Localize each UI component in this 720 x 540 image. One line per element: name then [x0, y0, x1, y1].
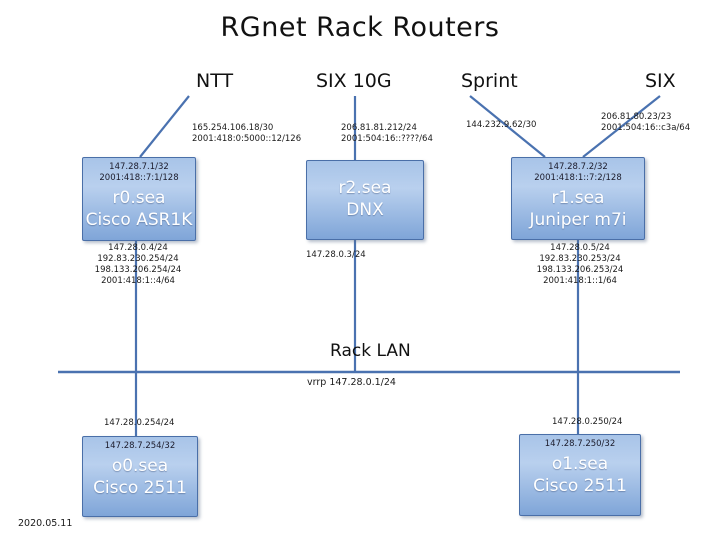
uplink-label-six10g: SIX 10G — [316, 70, 392, 92]
uplink-ip-line: 144.232.9.62/30 — [466, 120, 536, 131]
router-hostname: r2.sea — [307, 177, 423, 199]
uplink-ip-line: 2001:504:16::????/64 — [341, 134, 433, 145]
router-r2-lan-ips: 147.28.0.3/24 — [306, 250, 366, 261]
router-loopback-v4: 147.28.7.254/32 — [83, 441, 197, 452]
link-ntt-r0 — [140, 96, 189, 157]
router-hostname: o0.sea — [83, 455, 197, 477]
lan-ip-line: 2001:418:1::1/64 — [518, 276, 642, 287]
router-model: Cisco 2511 — [83, 477, 197, 499]
router-loopback-v4: 147.28.7.250/32 — [520, 439, 640, 450]
lan-ip-line: 198.133.206.254/24 — [76, 265, 200, 276]
uplink-ips-six10g: 206.81.81.212/24 2001:504:16::????/64 — [341, 123, 433, 145]
router-r0-sea[interactable]: 147.28.7.1/32 2001:418::7:1/128 r0.sea C… — [82, 157, 196, 241]
date-stamp: 2020.05.11 — [18, 518, 72, 529]
router-r2-sea[interactable]: r2.sea DNX — [306, 160, 424, 240]
router-loopback-v6: 2001:418::7:1/128 — [83, 173, 195, 184]
uplink-label-six: SIX — [645, 70, 676, 92]
router-o1-sea[interactable]: 147.28.7.250/32 o1.sea Cisco 2511 — [519, 434, 641, 516]
rack-lan-label: Rack LAN — [330, 341, 411, 361]
lan-ip-line: 147.28.0.5/24 — [518, 243, 642, 254]
uplink-label-sprint: Sprint — [461, 70, 518, 92]
router-hostname: o1.sea — [520, 453, 640, 475]
router-o1-lan-ips: 147.28.0.250/24 — [552, 417, 622, 428]
page-title: RGnet Rack Routers — [0, 12, 720, 43]
router-r1-sea[interactable]: 147.28.7.2/32 2001:418:1::7:2/128 r1.sea… — [511, 157, 645, 240]
lan-ip-line: 198.133.206.253/24 — [518, 265, 642, 276]
uplink-ip-line: 206.81.80.23/23 — [601, 112, 690, 123]
router-hostname: r0.sea — [83, 187, 195, 209]
uplink-label-ntt: NTT — [196, 70, 233, 92]
uplink-ips-ntt: 165.254.106.18/30 2001:418:0:5000::12/12… — [192, 123, 301, 145]
router-model: DNX — [307, 199, 423, 221]
lan-ip-line: 147.28.0.4/24 — [76, 243, 200, 254]
router-r1-lan-ips: 147.28.0.5/24 192.83.230.253/24 198.133.… — [518, 243, 642, 287]
router-loopback-v6: 2001:418:1::7:2/128 — [512, 173, 644, 184]
router-o0-sea[interactable]: 147.28.7.254/32 o0.sea Cisco 2511 — [82, 436, 198, 517]
diagram-canvas: RGnet Rack Routers NTT SIX 10G Sprint SI… — [0, 0, 720, 540]
lan-ip-line: 192.83.230.253/24 — [518, 254, 642, 265]
uplink-ip-line: 206.81.81.212/24 — [341, 123, 433, 134]
router-model: Cisco ASR1K — [83, 209, 195, 231]
uplink-ip-line: 2001:418:0:5000::12/126 — [192, 134, 301, 145]
router-model: Cisco 2511 — [520, 475, 640, 497]
router-hostname: r1.sea — [512, 187, 644, 209]
router-o0-lan-ips: 147.28.0.254/24 — [104, 418, 174, 429]
vrrp-label: vrrp 147.28.0.1/24 — [307, 377, 396, 388]
lan-ip-line: 147.28.0.254/24 — [104, 418, 174, 429]
uplink-ip-line: 165.254.106.18/30 — [192, 123, 301, 134]
uplink-ip-line: 2001:504:16::c3a/64 — [601, 123, 690, 134]
router-loopback-v4: 147.28.7.2/32 — [512, 162, 644, 173]
lan-ip-line: 147.28.0.3/24 — [306, 250, 366, 261]
uplink-ips-sprint: 144.232.9.62/30 — [466, 120, 536, 131]
lan-ip-line: 2001:418:1::4/64 — [76, 276, 200, 287]
lan-ip-line: 147.28.0.250/24 — [552, 417, 622, 428]
router-loopback-v4: 147.28.7.1/32 — [83, 162, 195, 173]
router-r0-lan-ips: 147.28.0.4/24 192.83.230.254/24 198.133.… — [76, 243, 200, 287]
uplink-ips-six: 206.81.80.23/23 2001:504:16::c3a/64 — [601, 112, 690, 134]
router-model: Juniper m7i — [512, 209, 644, 231]
lan-ip-line: 192.83.230.254/24 — [76, 254, 200, 265]
